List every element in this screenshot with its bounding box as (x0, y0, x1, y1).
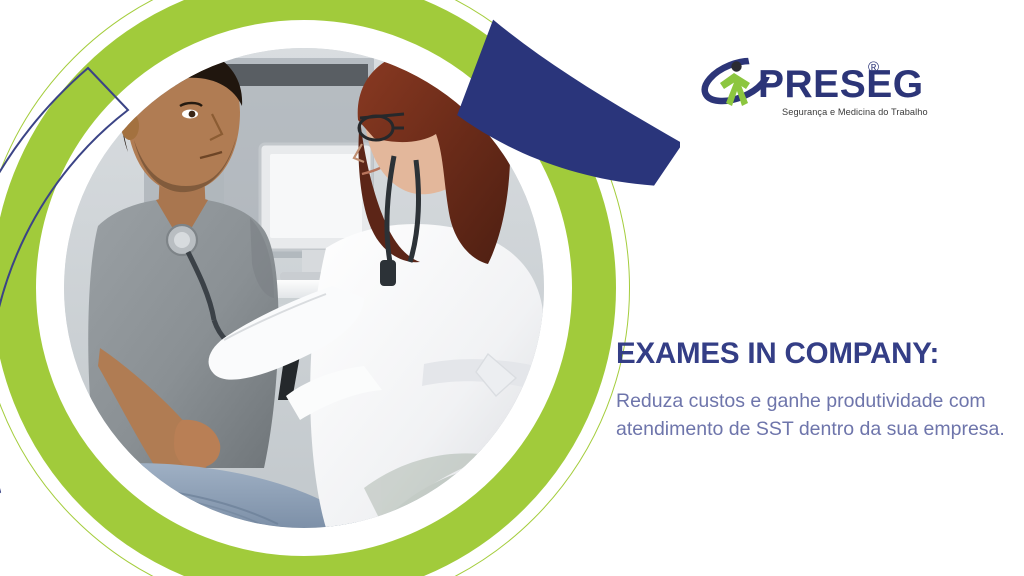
headline: EXAMES IN COMPANY: (616, 338, 1008, 370)
body-copy: Reduza custos e ganhe produtividade com … (616, 388, 1008, 443)
preseg-logo[interactable]: PRESEG ® Segurança e Medicina do Trabalh… (700, 55, 896, 135)
promo-text-block: EXAMES IN COMPANY: Reduza custos e ganhe… (616, 338, 1008, 444)
registered-trademark-symbol: ® (868, 59, 879, 76)
logo-tagline: Segurança e Medicina do Trabalho (782, 107, 928, 117)
logo-wordmark: PRESEG (758, 65, 924, 104)
navy-angled-quadrilateral (440, 0, 680, 226)
marketing-banner: PRESEG ® Segurança e Medicina do Trabalh… (0, 0, 1024, 576)
